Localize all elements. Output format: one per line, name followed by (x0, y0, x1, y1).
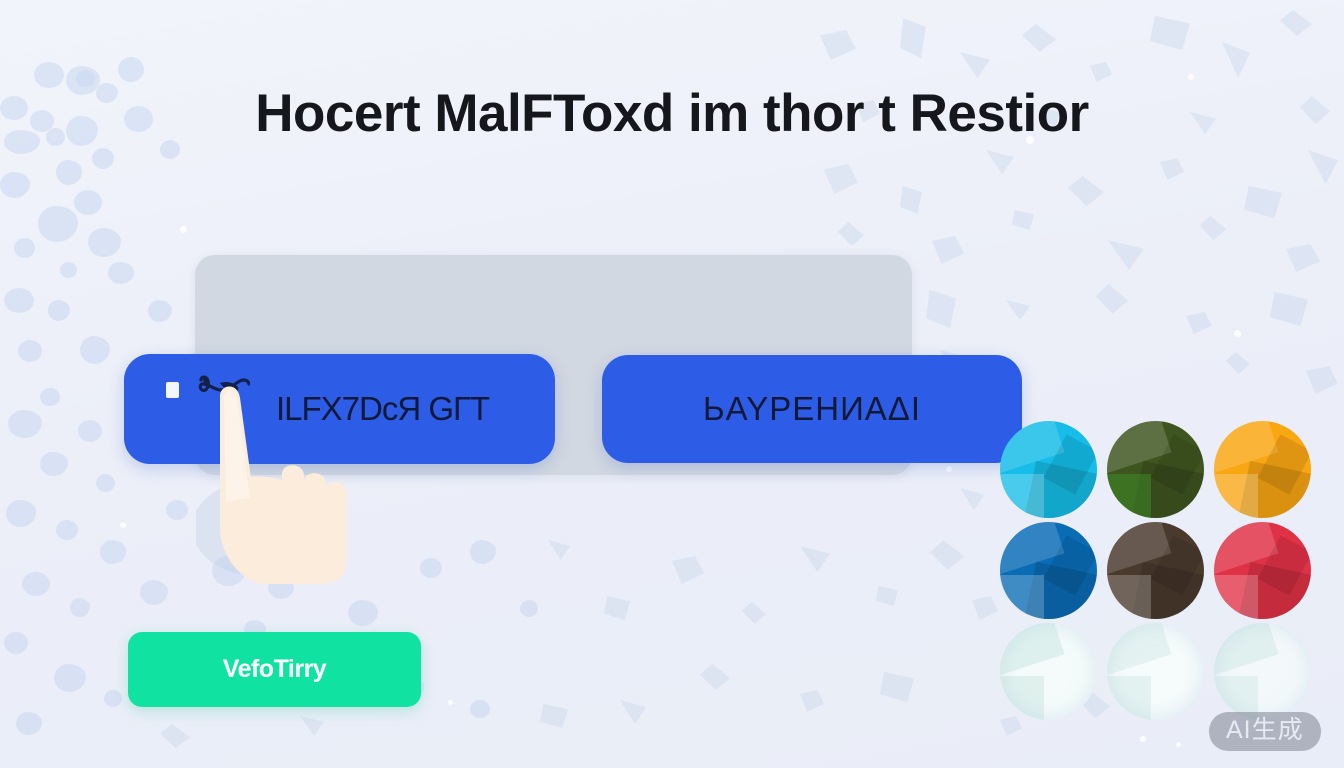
color-swatch-cyan[interactable] (1000, 421, 1097, 518)
selection-marker-icon (166, 382, 179, 398)
color-swatch-crimson[interactable] (1214, 522, 1311, 619)
primary-button-right-label: ЬAYPEHИAΔI (703, 390, 921, 428)
color-swatch-dark-brown[interactable] (1107, 522, 1204, 619)
color-swatch-amber[interactable] (1214, 421, 1311, 518)
page-title: Hocert MalFToxd im thor t Restior (0, 83, 1344, 144)
scribble-glyph-icon (198, 374, 250, 408)
ai-generated-watermark: AI生成 (1209, 712, 1321, 751)
color-swatch-steel-blue[interactable] (1000, 522, 1097, 619)
primary-button-left-label: ILFX7DcЯ GГT (276, 390, 489, 428)
confirm-button-label: VefoTirry (223, 655, 326, 684)
color-swatch-white-3[interactable] (1214, 623, 1311, 720)
confirm-button[interactable]: VefoTirry (128, 632, 421, 707)
color-swatch-white-1[interactable] (1000, 623, 1097, 720)
color-swatch-olive-green[interactable] (1107, 421, 1204, 518)
primary-button-left[interactable]: ILFX7DcЯ GГT (124, 354, 555, 464)
color-swatch-white-2[interactable] (1107, 623, 1204, 720)
primary-button-right[interactable]: ЬAYPEHИAΔI (602, 355, 1022, 463)
color-swatch-grid (1000, 421, 1306, 723)
screenshot-stage: Hocert MalFToxd im thor t Restior ILFX7D… (0, 0, 1344, 768)
